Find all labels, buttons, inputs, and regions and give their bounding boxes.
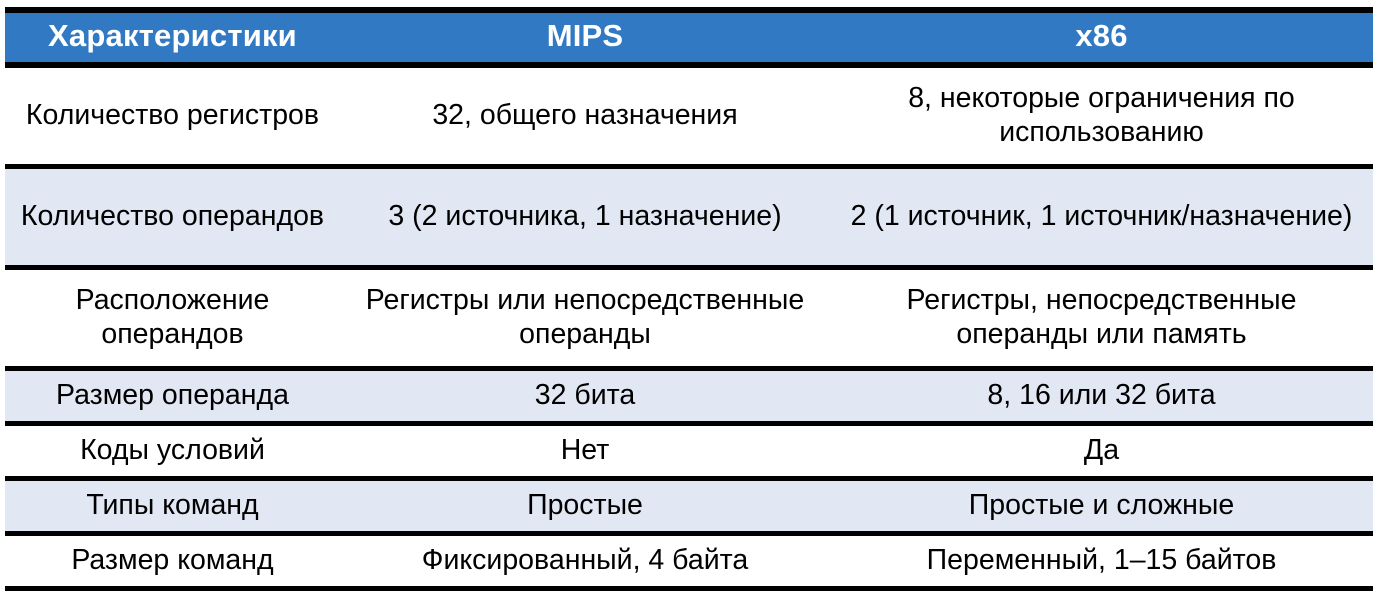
cell-x86: Да bbox=[830, 423, 1373, 478]
cell-mips: 32, общего назначения bbox=[340, 65, 830, 167]
cell-mips: Фиксированный, 4 байта bbox=[340, 533, 830, 588]
cell-mips: 32 бита bbox=[340, 368, 830, 423]
cell-feature: Расположение операндов bbox=[5, 267, 340, 368]
table-row: Расположение операндов Регистры или непо… bbox=[5, 267, 1373, 368]
table-header: Характеристики MIPS x86 bbox=[5, 10, 1373, 65]
table-row: Коды условий Нет Да bbox=[5, 423, 1373, 478]
cell-mips: Регистры или непосредственные операнды bbox=[340, 267, 830, 368]
cell-x86: Переменный, 1–15 байтов bbox=[830, 533, 1373, 588]
cell-mips: 3 (2 источника, 1 назначение) bbox=[340, 166, 830, 267]
mips-x86-comparison-table: Характеристики MIPS x86 Количество регис… bbox=[5, 7, 1373, 591]
table-row: Количество регистров 32, общего назначен… bbox=[5, 65, 1373, 167]
cell-x86: 2 (1 источник, 1 источник/назначение) bbox=[830, 166, 1373, 267]
cell-feature: Коды условий bbox=[5, 423, 340, 478]
table-row: Размер операнда 32 бита 8, 16 или 32 бит… bbox=[5, 368, 1373, 423]
table-row: Количество операндов 3 (2 источника, 1 н… bbox=[5, 166, 1373, 267]
table-header-row: Характеристики MIPS x86 bbox=[5, 10, 1373, 65]
cell-x86: Регистры, непосредственные операнды или … bbox=[830, 267, 1373, 368]
table-row: Типы команд Простые Простые и сложные bbox=[5, 478, 1373, 533]
cell-mips: Нет bbox=[340, 423, 830, 478]
table-row: Размер команд Фиксированный, 4 байта Пер… bbox=[5, 533, 1373, 588]
cell-feature: Количество операндов bbox=[5, 166, 340, 267]
table-body: Количество регистров 32, общего назначен… bbox=[5, 65, 1373, 589]
cell-feature: Количество регистров bbox=[5, 65, 340, 167]
cell-x86: 8, 16 или 32 бита bbox=[830, 368, 1373, 423]
comparison-table-container: Характеристики MIPS x86 Количество регис… bbox=[5, 7, 1373, 591]
cell-feature: Размер операнда bbox=[5, 368, 340, 423]
column-header-characteristics: Характеристики bbox=[5, 10, 340, 65]
column-header-x86: x86 bbox=[830, 10, 1373, 65]
cell-feature: Типы команд bbox=[5, 478, 340, 533]
cell-feature: Размер команд bbox=[5, 533, 340, 588]
cell-mips: Простые bbox=[340, 478, 830, 533]
cell-x86: 8, некоторые ограничения по использовани… bbox=[830, 65, 1373, 167]
cell-x86: Простые и сложные bbox=[830, 478, 1373, 533]
column-header-mips: MIPS bbox=[340, 10, 830, 65]
